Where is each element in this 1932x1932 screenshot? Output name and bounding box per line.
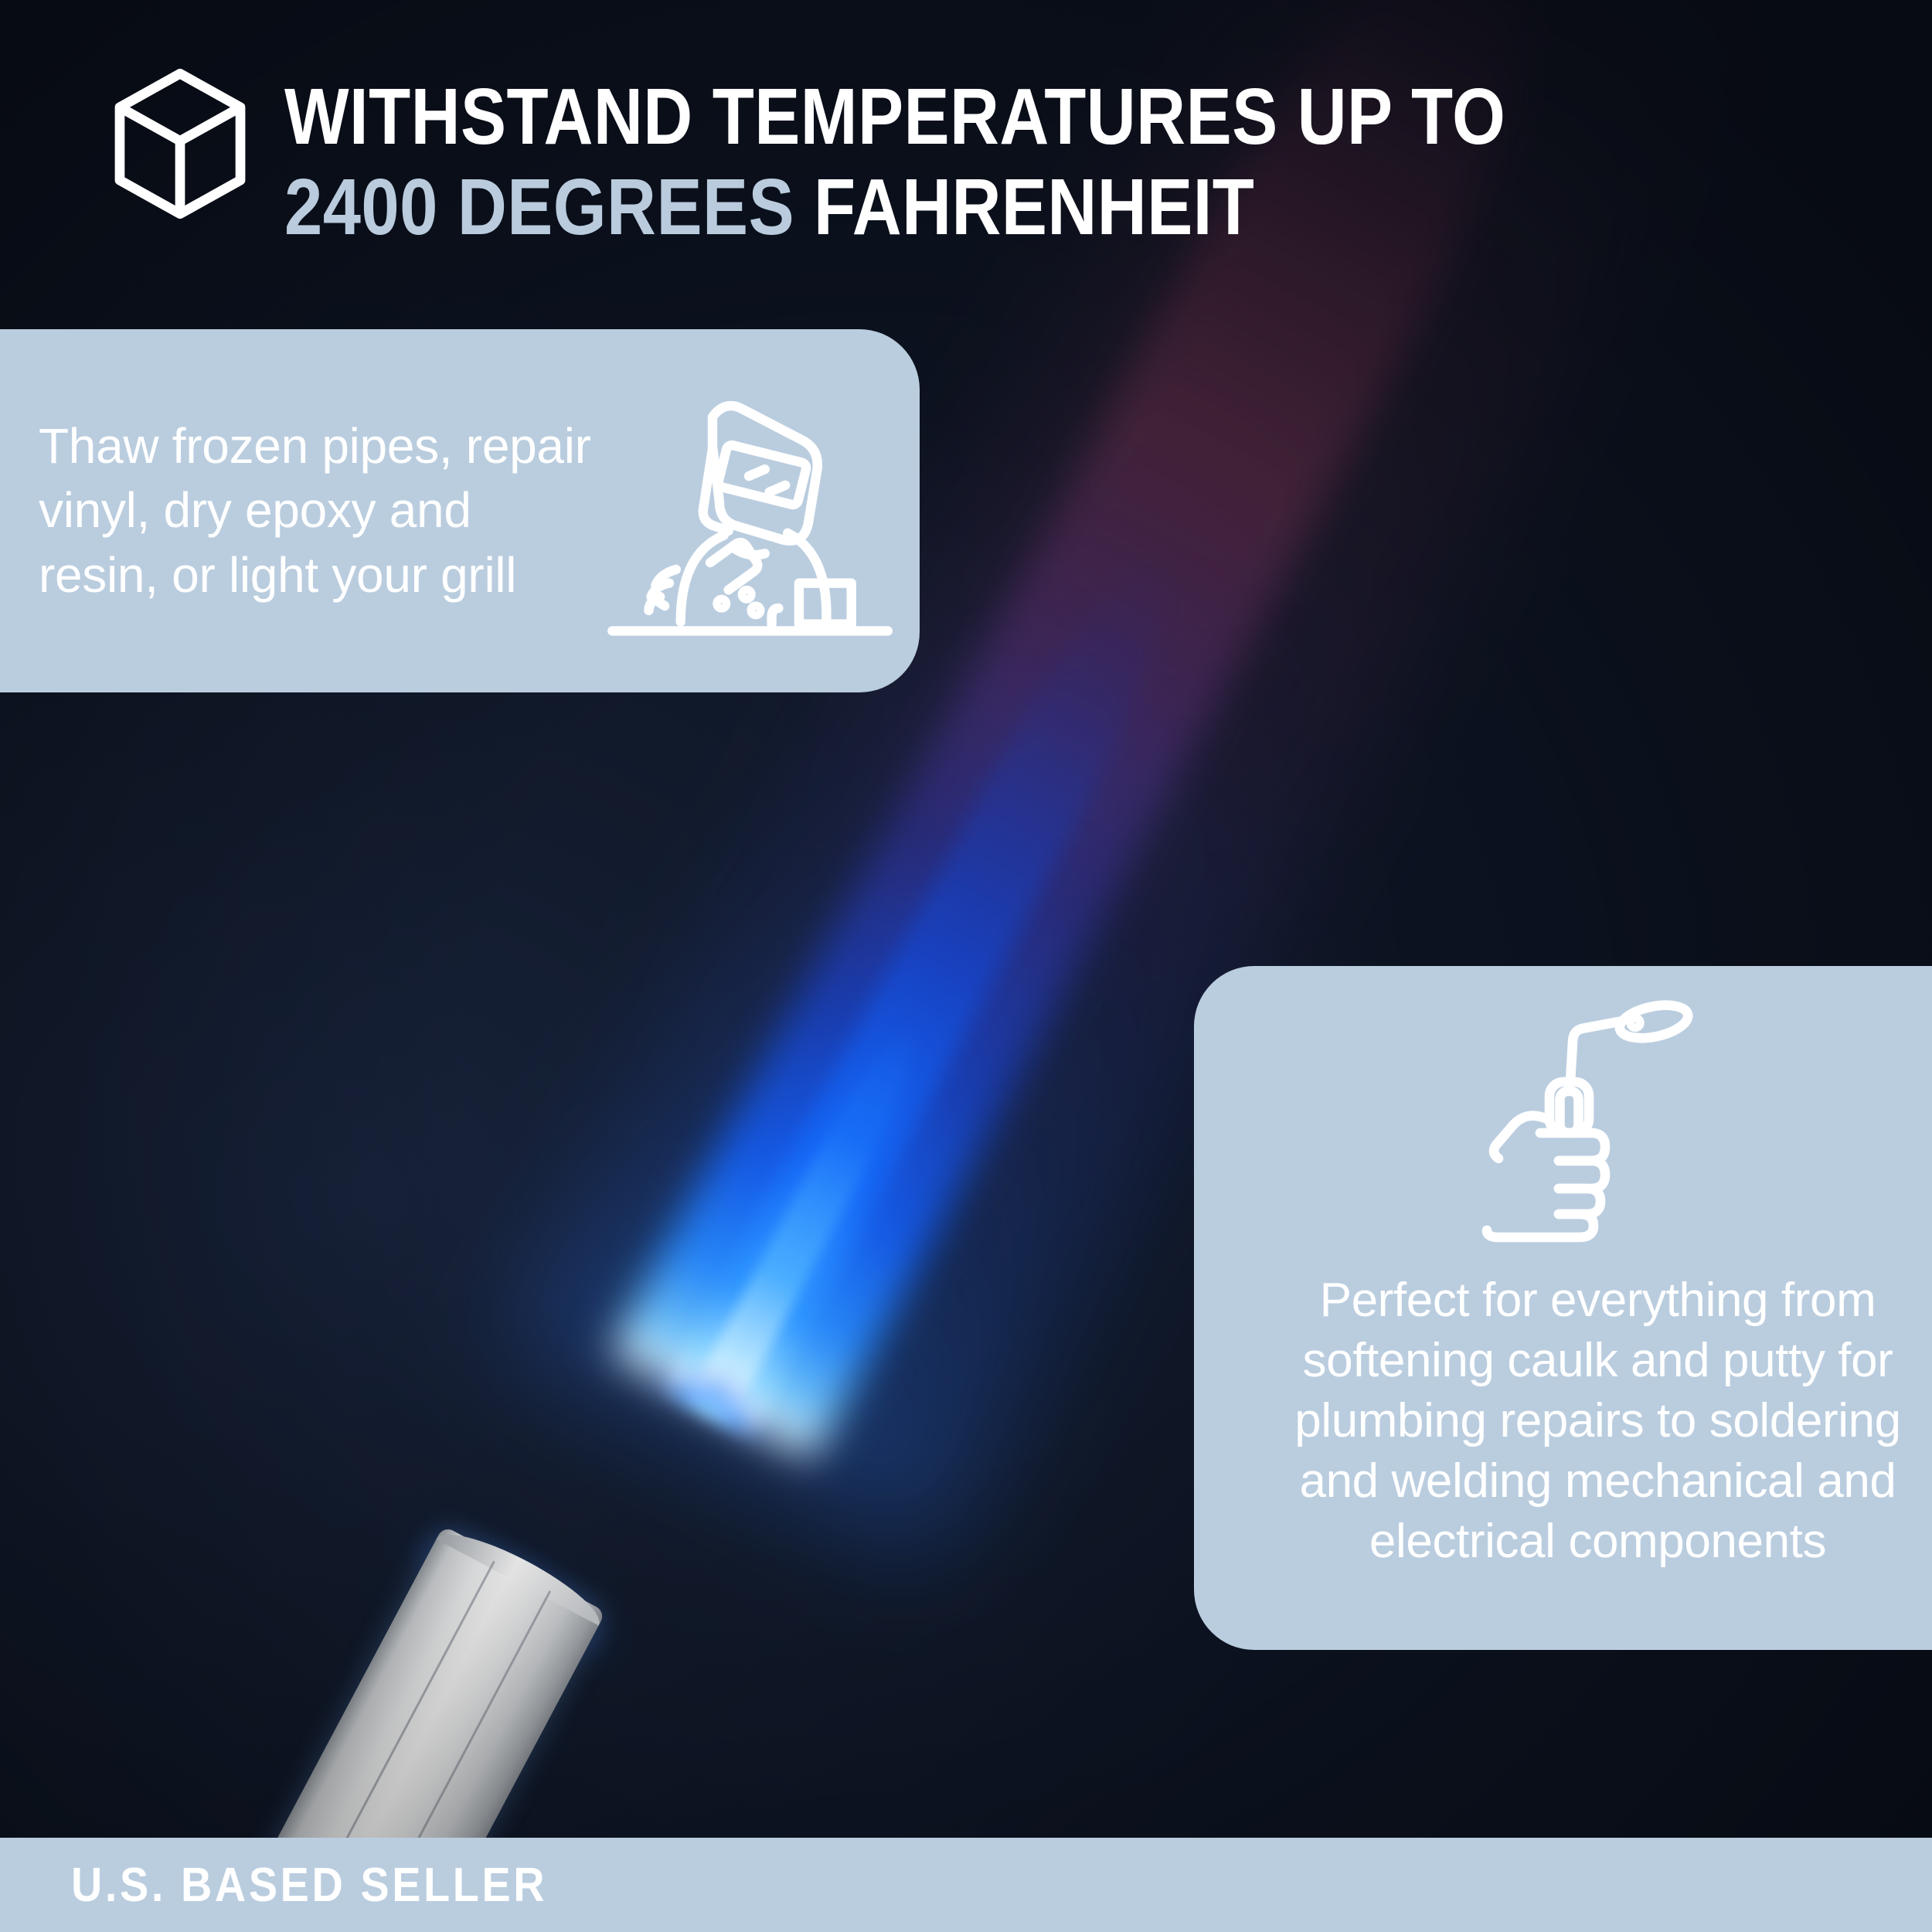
infographic-canvas: WITHSTAND TEMPERATURES UP TO 2400 DEGREE…	[0, 0, 1932, 1932]
seller-banner: U.S. BASED SELLER	[0, 1838, 1932, 1932]
applications-card-text: Perfect for everything from softening ca…	[1256, 1270, 1932, 1573]
uses-card-text: Thaw frozen pipes, repair vinyl, dry epo…	[39, 414, 595, 607]
headline-accent: 2400 DEGREES	[284, 162, 794, 251]
seller-banner-text: U.S. BASED SELLER	[71, 1858, 547, 1913]
headline-tail: FAHRENHEIT	[814, 162, 1254, 251]
page-title: WITHSTAND TEMPERATURES UP TO 2400 DEGREE…	[284, 68, 1705, 253]
header: WITHSTAND TEMPERATURES UP TO 2400 DEGREE…	[0, 0, 1932, 253]
welder-icon	[603, 394, 904, 649]
applications-card: Perfect for everything from softening ca…	[1194, 966, 1932, 1650]
torch-in-hand-icon	[1471, 997, 1726, 1260]
cube-icon	[108, 68, 252, 219]
headline-rest	[794, 162, 814, 251]
headline-line-2: 2400 DEGREES FAHRENHEIT	[284, 162, 1505, 252]
uses-card: Thaw frozen pipes, repair vinyl, dry epo…	[0, 329, 920, 692]
headline-line-1: WITHSTAND TEMPERATURES UP TO	[284, 71, 1505, 162]
